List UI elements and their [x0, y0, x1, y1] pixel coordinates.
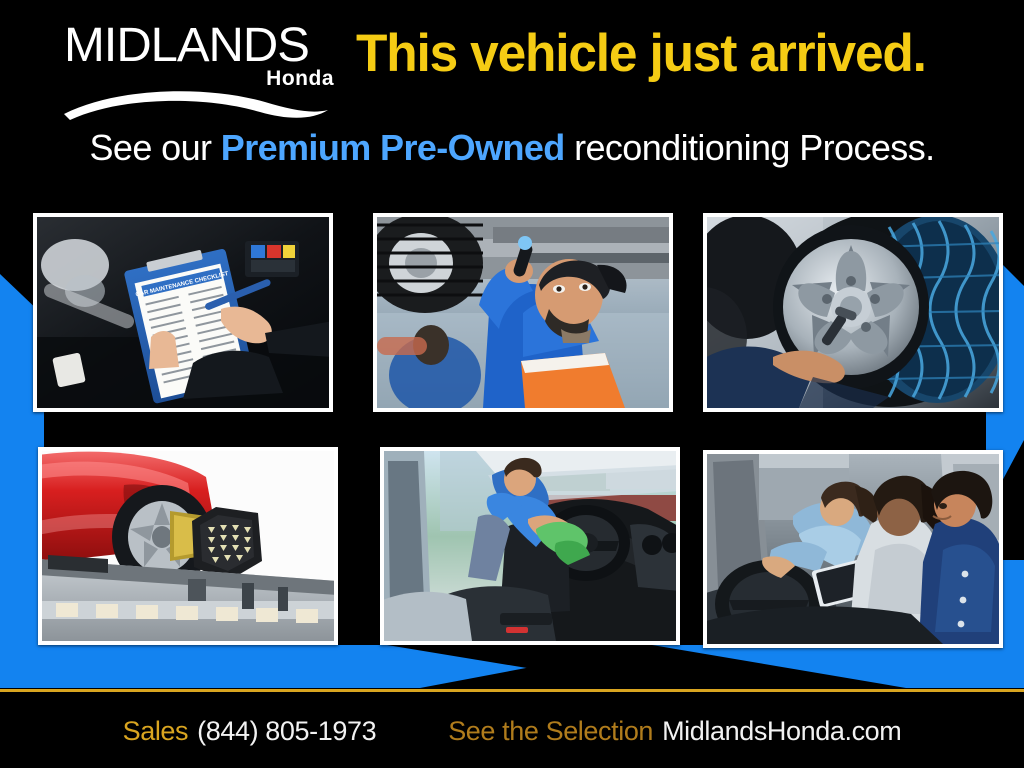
- photo-customer-delivery-image: [707, 454, 999, 644]
- dealership-logo[interactable]: MIDLANDS Honda: [64, 22, 346, 100]
- subheadline-tail: reconditioning Process.: [565, 127, 935, 168]
- photo-wheel-alignment[interactable]: [38, 447, 338, 645]
- sales-label: Sales: [123, 716, 189, 746]
- photo-interior-detailing[interactable]: [380, 447, 680, 645]
- photo-wheel-tire-service-image: [707, 217, 999, 408]
- see-the-selection-label: See the Selection: [448, 716, 653, 746]
- sales-phone[interactable]: (844) 805-1973: [197, 716, 376, 746]
- photo-undercarriage-inspection[interactable]: [373, 213, 673, 412]
- photo-wheel-alignment-image: [42, 451, 334, 641]
- subheadline-highlight: Premium Pre-Owned: [221, 127, 565, 168]
- photo-inspection-checklist[interactable]: CAR MAINTENANCE CHECKLIST: [33, 213, 333, 412]
- page-title: This vehicle just arrived.: [356, 24, 926, 84]
- ad-banner: MIDLANDS Honda This vehicle just arrived…: [0, 0, 1024, 768]
- swoosh-underline-icon: [60, 80, 350, 120]
- photo-wheel-tire-service[interactable]: [703, 213, 1003, 412]
- photo-customer-delivery[interactable]: [703, 450, 1003, 648]
- footer: Sales(844) 805-1973See the SelectionMidl…: [0, 692, 1024, 768]
- photo-undercarriage-inspection-image: [377, 217, 669, 408]
- subheadline: See our Premium Pre-Owned reconditioning…: [0, 126, 1024, 170]
- photo-inspection-checklist-image: CAR MAINTENANCE CHECKLIST: [37, 217, 329, 408]
- photo-interior-detailing-image: [384, 451, 676, 641]
- website-link[interactable]: MidlandsHonda.com: [662, 716, 901, 746]
- subheadline-lead: See our: [89, 127, 220, 168]
- header: MIDLANDS Honda This vehicle just arrived…: [0, 0, 1024, 196]
- logo-wordmark: MIDLANDS: [64, 22, 309, 70]
